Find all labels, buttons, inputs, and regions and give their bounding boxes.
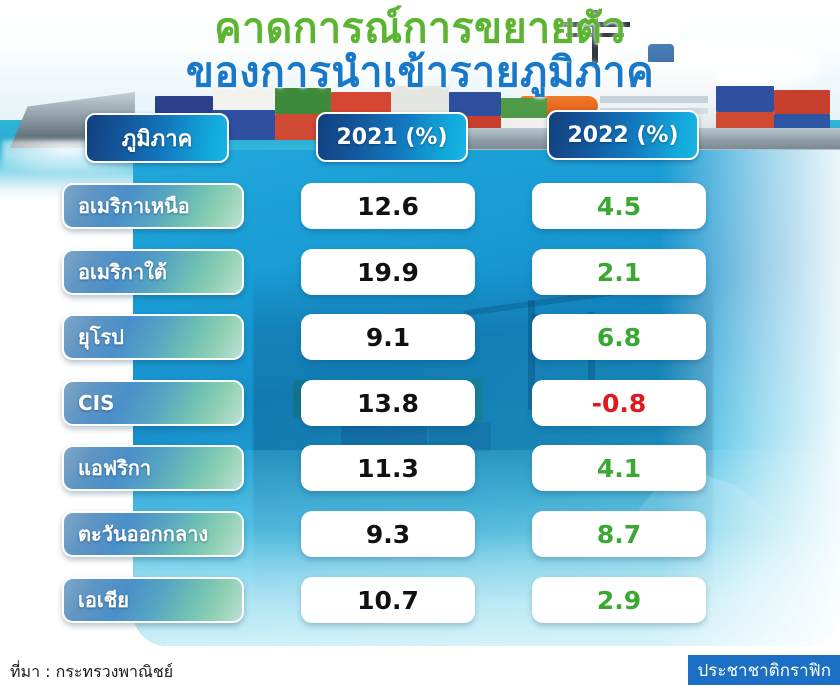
- value-2021: 9.1: [301, 314, 475, 360]
- value-2022: -0.8: [532, 380, 706, 426]
- value-2022: 2.9: [532, 577, 706, 623]
- region-label-pill: เอเชีย: [62, 577, 244, 623]
- table-row: อเมริกาเหนือ12.64.5: [0, 183, 840, 229]
- table-row: ตะวันออกกลาง9.38.7: [0, 511, 840, 557]
- value-2022: 6.8: [532, 314, 706, 360]
- value-2021: 13.8: [301, 380, 475, 426]
- table-row: ยุโรป9.16.8: [0, 314, 840, 360]
- region-label-pill: อเมริกาใต้: [62, 249, 244, 295]
- value-2022: 4.1: [532, 445, 706, 491]
- value-2022: 2.1: [532, 249, 706, 295]
- table-body: อเมริกาเหนือ12.64.5อเมริกาใต้19.92.1ยุโร…: [0, 0, 840, 691]
- value-2022: 4.5: [532, 183, 706, 229]
- region-label-pill: ยุโรป: [62, 314, 244, 360]
- source-text: ที่มา : กระทรวงพาณิชย์: [10, 660, 173, 685]
- infographic-root: คาดการณ์การขยายตัว ของการนำเข้ารายภูมิภา…: [0, 0, 840, 691]
- table-row: CIS13.8-0.8: [0, 380, 840, 426]
- table-row: เอเชีย10.72.9: [0, 577, 840, 623]
- brand-badge: ประชาชาติกราฟิก: [688, 655, 840, 685]
- region-label-pill: CIS: [62, 380, 244, 426]
- value-2021: 12.6: [301, 183, 475, 229]
- value-2021: 10.7: [301, 577, 475, 623]
- region-label-pill: แอฟริกา: [62, 445, 244, 491]
- table-row: อเมริกาใต้19.92.1: [0, 249, 840, 295]
- value-2021: 19.9: [301, 249, 475, 295]
- region-label-pill: อเมริกาเหนือ: [62, 183, 244, 229]
- region-label-pill: ตะวันออกกลาง: [62, 511, 244, 557]
- value-2021: 9.3: [301, 511, 475, 557]
- value-2022: 8.7: [532, 511, 706, 557]
- table-row: แอฟริกา11.34.1: [0, 445, 840, 491]
- value-2021: 11.3: [301, 445, 475, 491]
